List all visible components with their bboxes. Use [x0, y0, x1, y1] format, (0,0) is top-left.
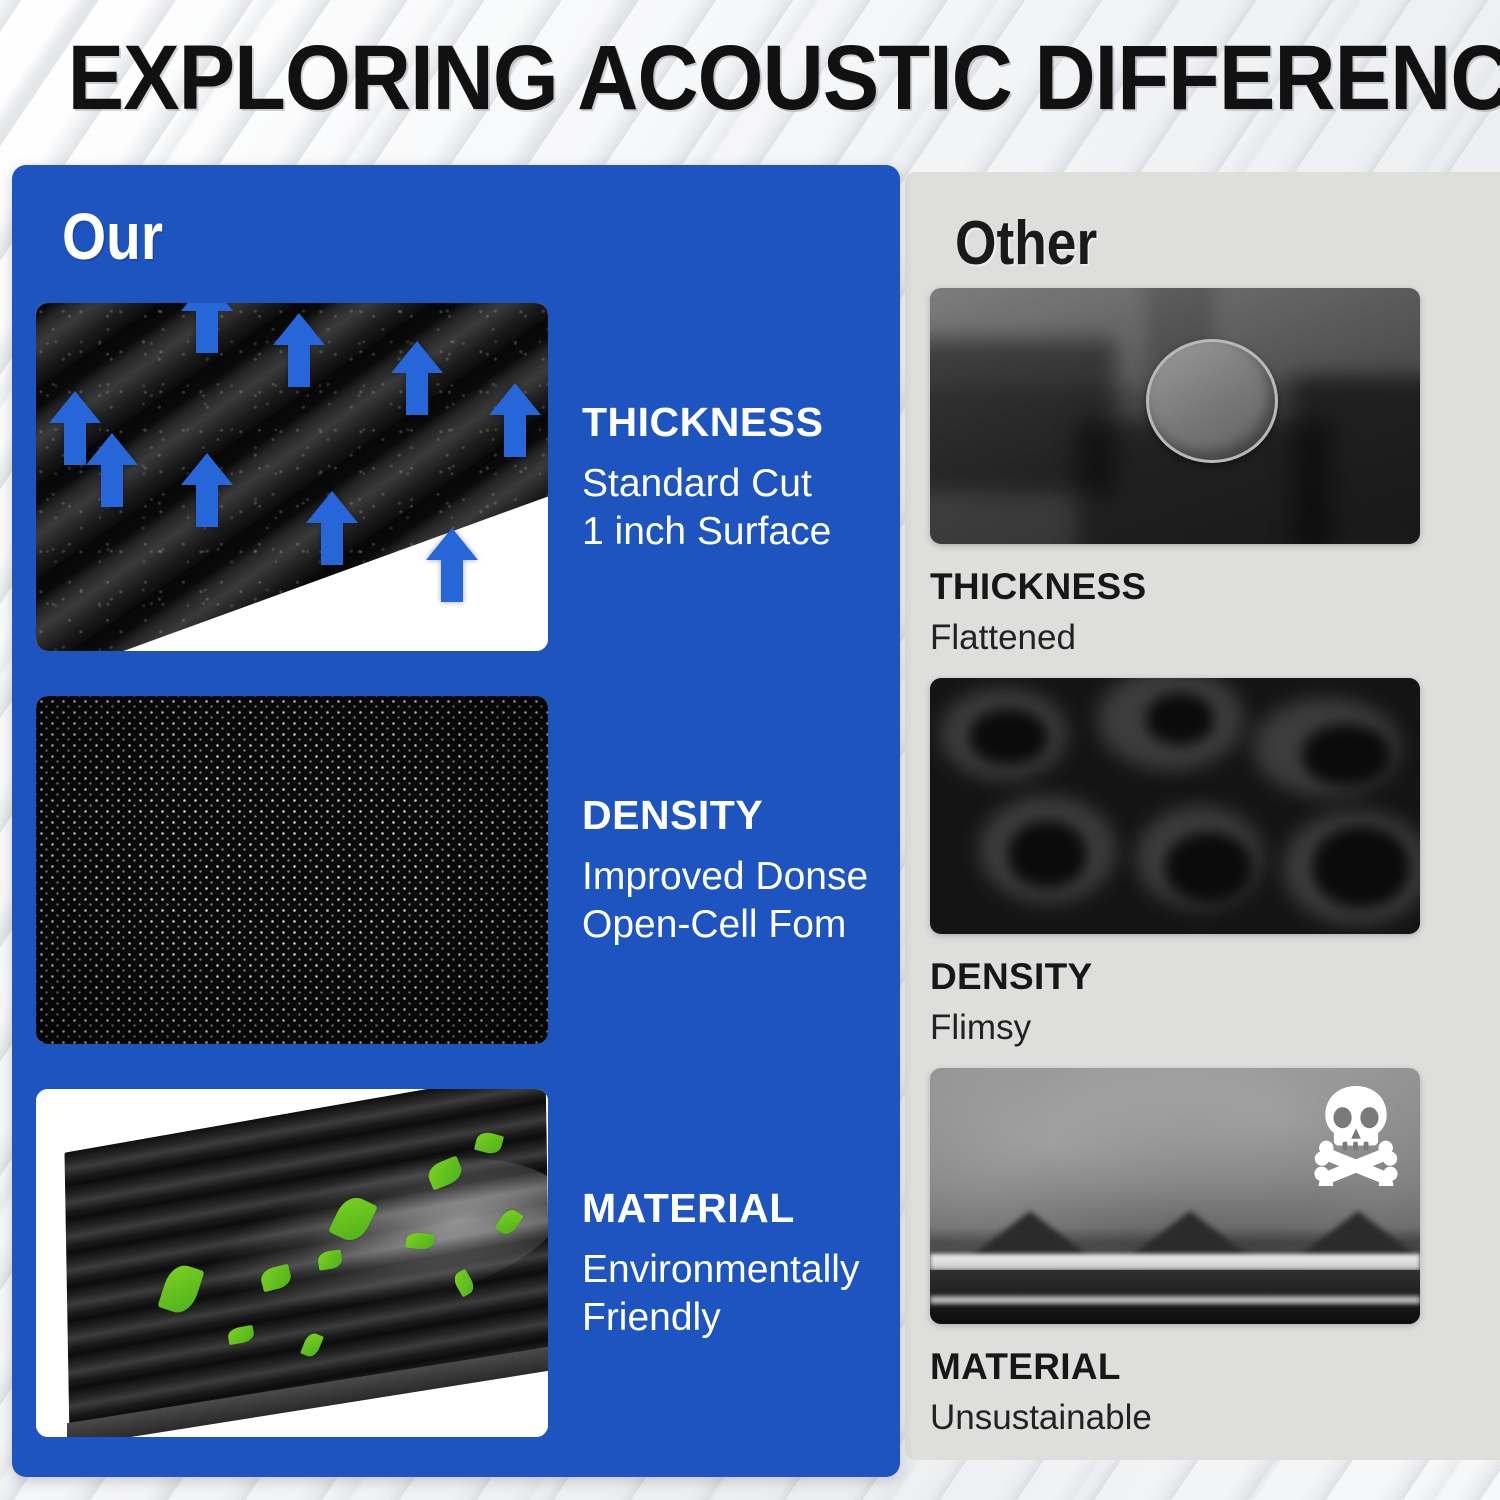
ribbed-foam-panel-with-green-leaves-image [36, 1089, 548, 1437]
other-panel-label: Other [955, 208, 1097, 279]
our-panel-label: Our [62, 198, 163, 274]
other-feature-block-thickness: THICKNESS Flattened [930, 288, 1420, 658]
foam-wedge-graphic [36, 303, 548, 651]
skull-and-crossbones-icon [1308, 1082, 1404, 1186]
gray-foam-graphic [930, 288, 1420, 544]
foam-hole [1302, 724, 1390, 785]
our-feature-heading: DENSITY [582, 792, 868, 839]
foam-hole [969, 709, 1047, 765]
our-feature-line2: 1 inch Surface [582, 508, 831, 556]
foam-hole [1146, 693, 1215, 744]
foam-peak [1130, 1211, 1250, 1257]
page-title: EXPLORING ACOUSTIC DIFFERENCES [68, 26, 1500, 131]
foam-hole [1165, 832, 1253, 904]
our-feature-line1: Standard Cut [582, 460, 831, 508]
our-feature-line2: Friendly [582, 1294, 859, 1342]
foam-hole [1008, 821, 1086, 888]
our-feature-row-material: MATERIAL Environmentally Friendly [36, 1089, 859, 1437]
other-feature-block-material: MATERIAL Unsustainable [930, 1068, 1420, 1438]
foam-peak [1298, 1211, 1418, 1257]
other-feature-line1: Flimsy [930, 1008, 1420, 1048]
dense-mesh-graphic [36, 696, 548, 1044]
dense-open-cell-foam-closeup-image [36, 696, 548, 1044]
our-feature-line1: Improved Donse [582, 853, 868, 901]
other-feature-heading: THICKNESS [930, 566, 1420, 608]
flattened-gray-foam-with-coin-image [930, 288, 1420, 544]
other-feature-line1: Flattened [930, 618, 1420, 658]
gray-foam-profile-with-skull-image [930, 1068, 1420, 1324]
foam-thin-band [930, 1296, 1420, 1304]
our-feature-row-density: DENSITY Improved Donse Open-Cell Fom [36, 696, 868, 1044]
page-title-wrap: EXPLORING ACOUSTIC DIFFERENCES [0, 26, 1500, 131]
mesh-vignette [36, 696, 548, 1044]
other-feature-heading: MATERIAL [930, 1346, 1420, 1388]
blotchy-foam-graphic [930, 678, 1420, 934]
foam-peak [970, 1211, 1090, 1257]
our-feature-line2: Open-Cell Fom [582, 901, 868, 949]
our-feature-heading: THICKNESS [582, 399, 831, 446]
our-feature-heading: MATERIAL [582, 1185, 859, 1232]
our-feature-text-thickness: THICKNESS Standard Cut 1 inch Surface [582, 399, 831, 555]
foam-shadow [1293, 375, 1420, 544]
our-feature-text-density: DENSITY Improved Donse Open-Cell Fom [582, 792, 868, 948]
wedge-foam-with-up-arrows-image [36, 303, 548, 651]
ribbed-foam-graphic [36, 1089, 548, 1437]
our-feature-row-thickness: THICKNESS Standard Cut 1 inch Surface [36, 303, 831, 651]
foam-light-band [930, 1254, 1420, 1270]
our-feature-line1: Environmentally [582, 1246, 859, 1294]
coin-object [1146, 339, 1278, 463]
other-feature-line1: Unsustainable [930, 1398, 1420, 1438]
other-feature-heading: DENSITY [930, 956, 1420, 998]
sparse-blotchy-foam-closeup-image [930, 678, 1420, 934]
other-feature-block-density: DENSITY Flimsy [930, 678, 1420, 1048]
foam-hole [1312, 826, 1410, 908]
our-feature-text-material: MATERIAL Environmentally Friendly [582, 1185, 859, 1341]
